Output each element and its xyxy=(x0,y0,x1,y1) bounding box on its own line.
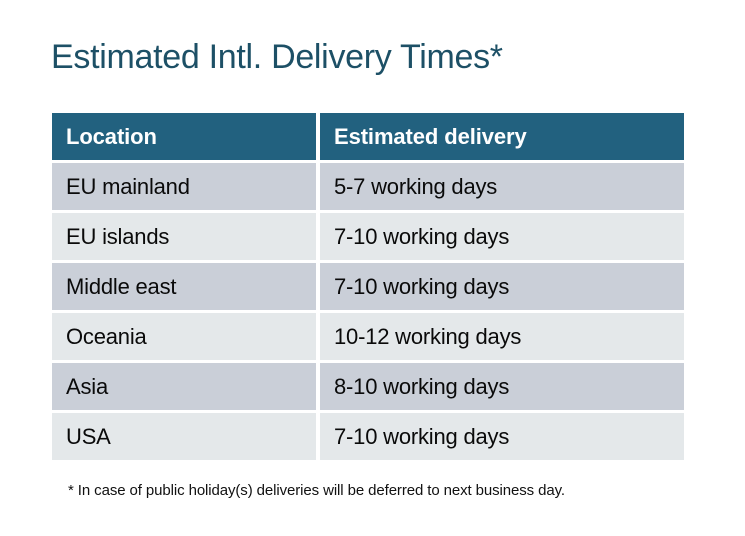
cell-location: Oceania xyxy=(52,313,316,360)
delivery-times-card: Estimated Intl. Delivery Times* Location… xyxy=(0,0,745,536)
table-row: USA 7-10 working days xyxy=(52,413,684,460)
table-row: EU islands 7-10 working days xyxy=(52,213,684,260)
table-header-row: Location Estimated delivery xyxy=(52,113,684,160)
table-row: Oceania 10-12 working days xyxy=(52,313,684,360)
cell-location: Asia xyxy=(52,363,316,410)
column-header-delivery: Estimated delivery xyxy=(320,113,684,160)
cell-delivery: 5-7 working days xyxy=(320,163,684,210)
cell-delivery: 7-10 working days xyxy=(320,213,684,260)
cell-location: EU islands xyxy=(52,213,316,260)
cell-delivery: 7-10 working days xyxy=(320,263,684,310)
delivery-times-table: Location Estimated delivery EU mainland … xyxy=(48,110,688,463)
cell-location: EU mainland xyxy=(52,163,316,210)
footnote-text: * In case of public holiday(s) deliverie… xyxy=(68,481,565,501)
cell-delivery: 8-10 working days xyxy=(320,363,684,410)
cell-delivery: 7-10 working days xyxy=(320,413,684,460)
cell-location: USA xyxy=(52,413,316,460)
table-row: Asia 8-10 working days xyxy=(52,363,684,410)
cell-location: Middle east xyxy=(52,263,316,310)
table-row: Middle east 7-10 working days xyxy=(52,263,684,310)
page-title: Estimated Intl. Delivery Times* xyxy=(51,36,503,78)
table-body: EU mainland 5-7 working days EU islands … xyxy=(52,163,684,460)
cell-delivery: 10-12 working days xyxy=(320,313,684,360)
column-header-location: Location xyxy=(52,113,316,160)
table-row: EU mainland 5-7 working days xyxy=(52,163,684,210)
table-header: Location Estimated delivery xyxy=(52,113,684,160)
